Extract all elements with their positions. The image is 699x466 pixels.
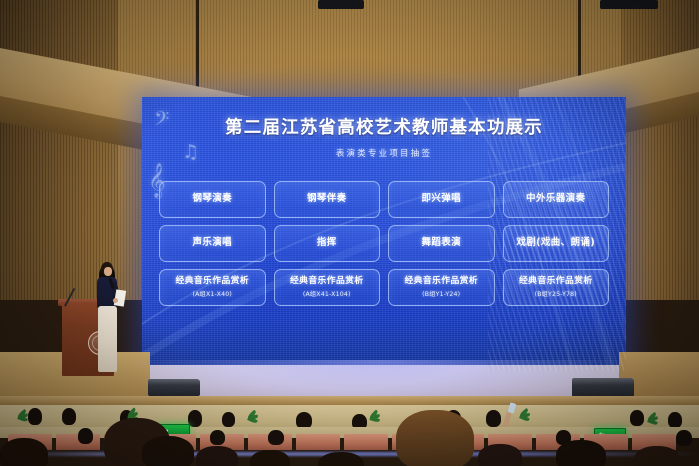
category-label: 中外乐器演奏: [526, 194, 585, 204]
category-label: 指挥: [317, 238, 337, 248]
category-cell-vocal-singing[interactable]: 声乐演唱: [159, 225, 266, 262]
ceiling-light-fixture-right: [600, 0, 658, 9]
right-wall-panel: [621, 0, 699, 300]
stage-monitor-speaker-left: [148, 379, 200, 396]
category-cell-chinese-western-instruments[interactable]: 中外乐器演奏: [503, 181, 610, 218]
category-label: 戏剧(戏曲、朗诵): [516, 238, 595, 248]
audience-seat[interactable]: [296, 434, 340, 450]
led-presentation-screen: 𝄢 ♫ 𝄞 第二届江苏省高校艺术教师基本功展示 表演类专业项目抽签 钢琴演奏 钢…: [142, 97, 626, 371]
category-cell-conducting[interactable]: 指挥: [274, 225, 381, 262]
category-cell-music-appreciation-a2[interactable]: 经典音乐作品赏析 (A组X41-X104): [274, 269, 381, 306]
audience-head: [28, 408, 42, 425]
category-cell-music-appreciation-a1[interactable]: 经典音乐作品赏析 (A组X1-X40): [159, 269, 266, 306]
foreground-audience-head: [634, 446, 680, 466]
category-grid: 钢琴演奏 钢琴伴奏 即兴弹唱 中外乐器演奏 声乐演唱 指挥 舞: [159, 181, 609, 306]
foreground-audience-head: [556, 440, 606, 466]
auditorium-photo: 𝄢 ♫ 𝄞 第二届江苏省高校艺术教师基本功展示 表演类专业项目抽签 钢琴演奏 钢…: [0, 0, 699, 466]
category-label: 经典音乐作品赏析: [290, 277, 364, 287]
audience-head: [78, 428, 93, 444]
foreground-audience-head: [478, 444, 522, 466]
audience-head: [668, 412, 682, 428]
left-wall-panel: [0, 0, 118, 300]
presentation-title: 第二届江苏省高校艺术教师基本功展示: [142, 114, 626, 139]
category-cell-dance-performance[interactable]: 舞蹈表演: [388, 225, 495, 262]
category-label: 钢琴伴奏: [307, 194, 347, 204]
category-cell-music-appreciation-b1[interactable]: 经典音乐作品赏析 (B组Y1-Y24): [388, 269, 495, 306]
foreground-audience-head: [250, 450, 290, 466]
foreground-audience-head: [196, 446, 238, 466]
audience-head: [62, 408, 76, 425]
ceiling-light-fixture-left: [318, 0, 364, 9]
category-cell-piano-performance[interactable]: 钢琴演奏: [159, 181, 266, 218]
category-label: 经典音乐作品赏析: [404, 277, 478, 287]
category-code: (A组X1-X40): [193, 289, 232, 298]
category-cell-piano-accompaniment[interactable]: 钢琴伴奏: [274, 181, 381, 218]
audience-head: [188, 410, 202, 427]
foreground-audience-head: [396, 410, 474, 466]
audience-head: [676, 430, 692, 446]
audience-seat[interactable]: [344, 434, 388, 450]
category-label: 声乐演唱: [192, 238, 232, 248]
presenter-face: [104, 267, 112, 276]
category-label: 即兴弹唱: [421, 194, 461, 204]
category-cell-music-appreciation-b2[interactable]: 经典音乐作品赏析 (B组Y25-Y78): [503, 269, 610, 306]
presenter-person: [92, 262, 122, 377]
category-label: 经典音乐作品赏析: [175, 277, 249, 287]
stage-monitor-speaker-right: [572, 378, 634, 397]
presenter-skirt: [98, 306, 117, 372]
presenter-hand: [113, 298, 118, 303]
category-cell-drama[interactable]: 戏剧(戏曲、朗诵): [503, 225, 610, 262]
category-label: 经典音乐作品赏析: [519, 277, 593, 287]
category-code: (B组Y1-Y24): [422, 289, 460, 298]
foreground-audience-head: [142, 436, 194, 466]
category-code: (B组Y25-Y78): [535, 289, 577, 298]
presentation-subtitle: 表演类专业项目抽签: [142, 147, 626, 159]
foreground-audience-head: [0, 438, 48, 466]
category-code: (A组X41-X104): [303, 289, 351, 298]
category-label: 钢琴演奏: [192, 194, 232, 204]
audience-head: [210, 430, 225, 445]
audience-head: [268, 430, 284, 445]
audience-head: [222, 412, 235, 427]
audience-head: [630, 410, 644, 426]
category-label: 舞蹈表演: [421, 238, 461, 248]
category-cell-improvised-singing[interactable]: 即兴弹唱: [388, 181, 495, 218]
